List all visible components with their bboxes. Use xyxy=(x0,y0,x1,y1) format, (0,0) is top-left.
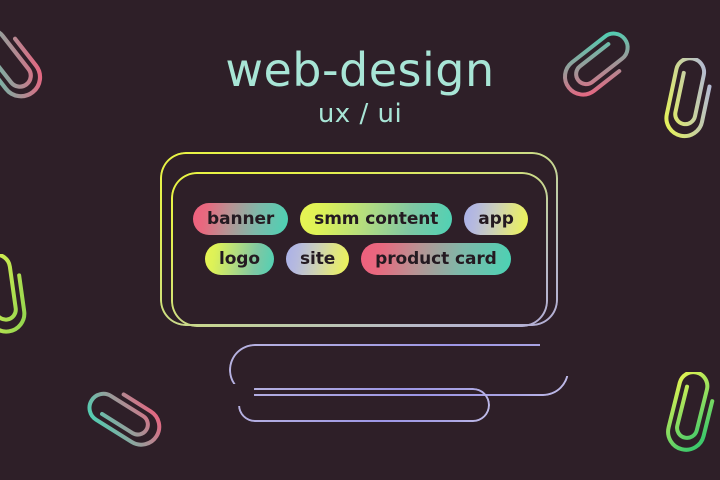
page-title: web-design xyxy=(0,44,720,96)
tag-row: logo site product card xyxy=(193,243,533,275)
paperclip-bottom-right-icon xyxy=(652,372,720,460)
poster-canvas: web-design ux / ui banner smm content ap… xyxy=(0,0,720,480)
upper-loop-mask xyxy=(540,340,576,376)
header-block: web-design ux / ui xyxy=(0,44,720,130)
tag-product-card[interactable]: product card xyxy=(361,243,511,275)
tag-logo[interactable]: logo xyxy=(205,243,274,275)
paperclip-left-middle-icon xyxy=(0,254,38,340)
tag-site[interactable]: site xyxy=(286,243,349,275)
lower-loop-mask xyxy=(232,384,254,406)
paperclip-bottom-left-icon xyxy=(82,382,178,462)
tag-row: banner smm content app xyxy=(193,203,533,235)
tag-cloud: banner smm content app logo site product… xyxy=(193,203,533,283)
lower-loop xyxy=(238,388,490,422)
page-subtitle: ux / ui xyxy=(0,98,720,130)
tag-smm-content[interactable]: smm content xyxy=(300,203,452,235)
tag-banner[interactable]: banner xyxy=(193,203,288,235)
tag-app[interactable]: app xyxy=(464,203,528,235)
